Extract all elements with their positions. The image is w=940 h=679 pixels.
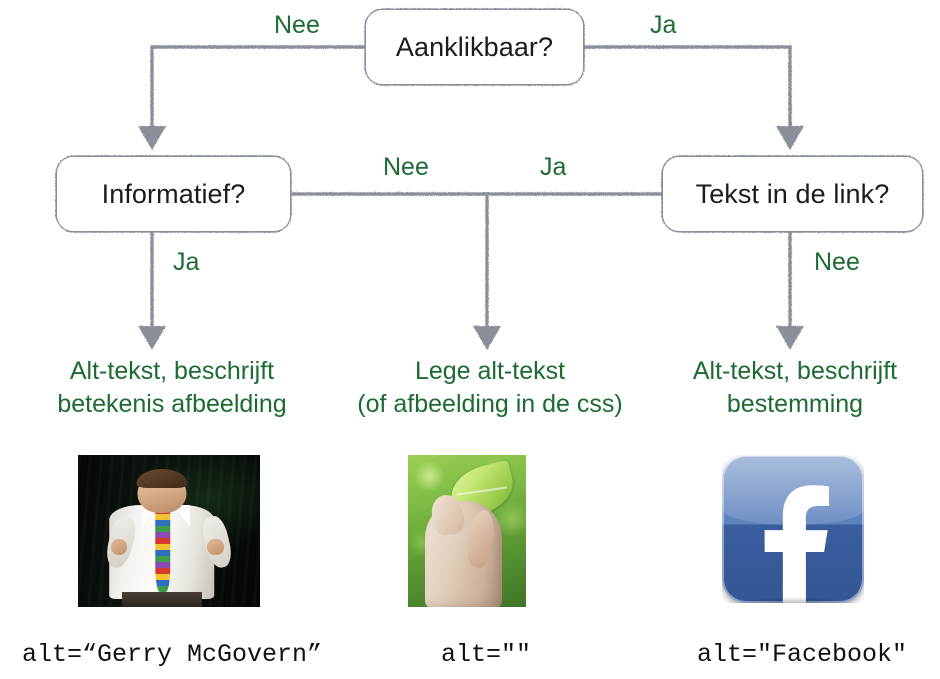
arrowhead-to-informatief	[138, 126, 166, 150]
speaker-hand-left	[111, 539, 127, 556]
outcome-middle-line2: (of afbeelding in de css)	[330, 388, 650, 421]
facebook-icon	[722, 455, 864, 603]
code-caption-middle: alt=""	[441, 640, 531, 669]
outcome-right-line1: Alt-tekst, beschrijft	[693, 357, 897, 385]
facebook-f-glyph	[756, 484, 836, 603]
edge-label-aanklikbaar-nee: Nee	[274, 13, 320, 38]
arrowhead-to-tekstlink	[776, 126, 804, 150]
edge-label-informatief-nee: Nee	[383, 155, 429, 180]
decision-node-aanklikbaar-label: Aanklikbaar?	[396, 34, 553, 61]
outcome-right-line2: bestemming	[645, 388, 940, 421]
edge-aanklikbaar-ja	[583, 47, 790, 128]
alt-text-decision-tree-diagram: Aanklikbaar? Informatief? Tekst in de li…	[0, 0, 940, 679]
outcome-text-middle: Lege alt-tekst (of afbeelding in de css)	[330, 355, 650, 421]
edge-label-informatief-ja: Ja	[173, 250, 199, 275]
decision-node-informatief[interactable]: Informatief?	[57, 157, 290, 231]
decision-node-aanklikbaar[interactable]: Aanklikbaar?	[366, 10, 583, 84]
outcome-left-line2: betekenis afbeelding	[12, 388, 332, 421]
decision-node-informatief-label: Informatief?	[102, 181, 246, 208]
outcome-text-left: Alt-tekst, beschrijft betekenis afbeeldi…	[12, 355, 332, 421]
example-image-speaker-photo	[78, 455, 260, 607]
example-image-facebook-icon	[722, 455, 864, 603]
edge-label-tekst-in-de-link-nee: Nee	[814, 250, 860, 275]
outcome-left-line1: Alt-tekst, beschrijft	[70, 357, 274, 385]
edge-aanklikbaar-nee	[152, 47, 366, 128]
code-caption-right: alt="Facebook"	[697, 640, 907, 669]
outcome-text-right: Alt-tekst, beschrijft bestemming	[645, 355, 940, 421]
decision-node-tekst-in-de-link[interactable]: Tekst in de link?	[663, 157, 922, 231]
outcome-middle-line1: Lege alt-tekst	[415, 357, 565, 385]
speaker-colorful-tie	[155, 508, 170, 592]
edge-label-aanklikbaar-ja: Ja	[650, 13, 676, 38]
decision-node-tekst-in-de-link-label: Tekst in de link?	[696, 181, 890, 208]
speaker-photo-illustration	[78, 455, 260, 607]
speaker-trousers	[122, 592, 202, 607]
code-caption-left: alt=“Gerry McGovern”	[22, 640, 322, 669]
example-image-leaf-in-hand-photo	[408, 455, 526, 607]
edge-label-tekst-in-de-link-ja: Ja	[540, 155, 566, 180]
leaf-photo-illustration	[408, 455, 526, 607]
speaker-hand-right	[207, 539, 223, 556]
arrowhead-to-outcome-middle	[473, 326, 501, 350]
leaf-vein	[457, 486, 508, 495]
arrowhead-to-outcome-left	[138, 326, 166, 350]
arrowhead-to-outcome-right	[776, 326, 804, 350]
